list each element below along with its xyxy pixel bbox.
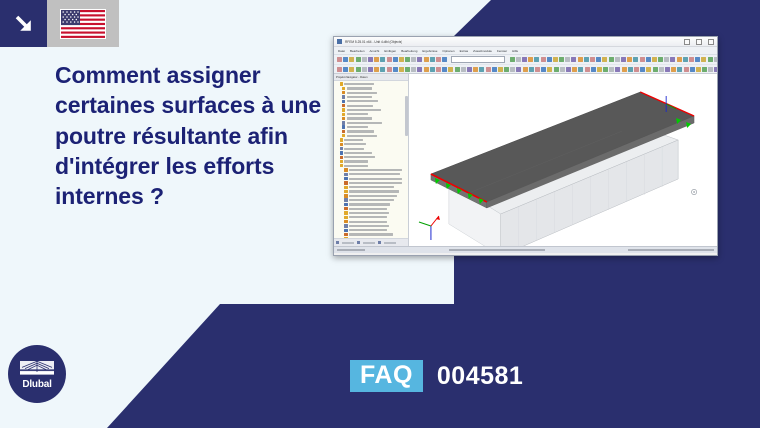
toolbar-icon[interactable] xyxy=(436,67,441,72)
tree-item-label xyxy=(344,165,367,167)
menu-item-bearbeitung[interactable]: Bearbeitung xyxy=(401,49,417,53)
toolbar-icon[interactable] xyxy=(479,67,484,72)
toolbar-icon[interactable] xyxy=(603,67,608,72)
tab-daten-label xyxy=(342,242,354,244)
tree-node-icon xyxy=(344,194,347,197)
toolbar-icon[interactable] xyxy=(602,57,607,62)
toolbar-icon[interactable] xyxy=(510,57,515,62)
tree-node-icon xyxy=(342,125,345,128)
toolbar-icon[interactable] xyxy=(522,57,527,62)
toolbar-icon[interactable] xyxy=(399,67,404,72)
tree-item-label xyxy=(349,212,389,214)
toolbar-icon[interactable] xyxy=(597,67,602,72)
tab-anzeige-label xyxy=(363,242,375,244)
toolbar-icon[interactable] xyxy=(622,67,627,72)
tree-scrollbar[interactable] xyxy=(405,96,408,136)
toolbar-icon[interactable] xyxy=(362,57,367,62)
page-title: Comment assigner certaines surfaces à un… xyxy=(55,60,335,212)
project-navigator-panel[interactable]: Projekt-Navigator - Daten xyxy=(334,74,409,246)
toolbar-icon[interactable] xyxy=(455,67,460,72)
maximize-button[interactable] xyxy=(696,39,702,45)
toolbar-icon[interactable] xyxy=(646,57,651,62)
toolbar-icon[interactable] xyxy=(498,67,503,72)
tree-item-label xyxy=(347,135,377,137)
status-right xyxy=(628,249,714,251)
tree-node-icon xyxy=(342,121,345,124)
toolbar-icon[interactable] xyxy=(424,67,429,72)
cad-titlebar: RFEM 5.25.01 x64 - Unit 4.dlbl (Objects) xyxy=(334,37,717,47)
flag-badge xyxy=(47,0,119,47)
project-navigator-header: Projekt-Navigator - Daten xyxy=(334,74,408,81)
faq-number: 004581 xyxy=(437,364,523,389)
menu-item-datei[interactable]: Datei xyxy=(338,49,345,53)
toolbar-icon[interactable] xyxy=(528,57,533,62)
toolbar-icon[interactable] xyxy=(424,57,429,62)
toolbar-icon[interactable] xyxy=(430,57,435,62)
toolbar-icon[interactable] xyxy=(529,67,534,72)
tree-item-label xyxy=(349,182,402,184)
badge xyxy=(0,0,119,47)
toolbar-icon[interactable] xyxy=(534,57,539,62)
navigator-tabs[interactable] xyxy=(334,238,409,246)
tree-item-label xyxy=(344,160,367,162)
toolbar-icon[interactable] xyxy=(628,67,633,72)
toolbar-icon[interactable] xyxy=(553,57,558,62)
cad-application-window[interactable]: RFEM 5.25.01 x64 - Unit 4.dlbl (Objects)… xyxy=(333,36,718,256)
toolbar-icon[interactable] xyxy=(708,67,713,72)
tree-item-label xyxy=(347,109,381,111)
dlubal-logo: Dlubal xyxy=(8,345,66,403)
tree-node-icon xyxy=(344,168,347,171)
toolbar-icon[interactable] xyxy=(356,67,361,72)
toolbar-icon[interactable] xyxy=(541,67,546,72)
toolbar-icon[interactable] xyxy=(696,67,701,72)
tree-item-label xyxy=(349,195,397,197)
minimize-button[interactable] xyxy=(684,39,690,45)
tree-node-icon xyxy=(342,130,345,133)
tree-node-icon xyxy=(340,156,343,159)
toolbar-icon[interactable] xyxy=(393,57,398,62)
toolbar-icon[interactable] xyxy=(646,67,651,72)
toolbar-icon[interactable] xyxy=(393,67,398,72)
toolbar-icon[interactable] xyxy=(535,67,540,72)
toolbar-icon[interactable] xyxy=(362,67,367,72)
tree-item-label xyxy=(349,169,402,171)
close-button[interactable] xyxy=(708,39,714,45)
tree-node-icon xyxy=(342,113,345,116)
tree-item-label xyxy=(347,87,373,89)
tree-node-icon xyxy=(344,186,347,189)
tree-item-label xyxy=(344,143,366,145)
tree-item-label xyxy=(347,122,382,124)
toolbar-icon[interactable] xyxy=(467,67,472,72)
menu-item-ergebnisse[interactable]: Ergebnisse xyxy=(422,49,437,53)
toolbar-icon[interactable] xyxy=(559,57,564,62)
model-viewport[interactable] xyxy=(409,74,717,246)
toolbar-icon[interactable] xyxy=(560,67,565,72)
toolbar-icon[interactable] xyxy=(627,57,632,62)
menu-item-hilfe[interactable]: Hilfe xyxy=(512,49,518,53)
toolbar-icon[interactable] xyxy=(374,57,379,62)
toolbar-icon[interactable] xyxy=(343,67,348,72)
coordinate-axes-icon xyxy=(419,216,440,240)
tree-item-label xyxy=(344,83,374,85)
toolbar-icon[interactable] xyxy=(590,57,595,62)
toolbar-icon[interactable] xyxy=(387,57,392,62)
tree-node-icon xyxy=(340,147,343,150)
toolbar-icon[interactable] xyxy=(547,57,552,62)
toolbar-icon[interactable] xyxy=(486,67,491,72)
slide-root: Comment assigner certaines surfaces à un… xyxy=(0,0,760,428)
toolbar-icon[interactable] xyxy=(374,67,379,72)
tree-item-label xyxy=(349,186,394,188)
toolbar-icon[interactable] xyxy=(690,67,695,72)
toolbar-icon[interactable] xyxy=(430,67,435,72)
toolbar-icon[interactable] xyxy=(343,57,348,62)
toolbar-icon[interactable] xyxy=(671,67,676,72)
faq-bar: FAQ 004581 xyxy=(350,360,523,392)
toolbar-icon[interactable] xyxy=(664,57,669,62)
tab-daten-icon[interactable] xyxy=(336,241,339,244)
toolbar-icon[interactable] xyxy=(368,57,373,62)
toolbar-icon[interactable] xyxy=(554,67,559,72)
menu-item-extras[interactable]: Extras xyxy=(460,49,469,53)
tab-ansichten-icon[interactable] xyxy=(378,241,381,244)
toolbar-icon[interactable] xyxy=(621,57,626,62)
toolbar-icon[interactable] xyxy=(405,67,410,72)
toolbar-icon[interactable] xyxy=(349,57,354,62)
tree-item-label xyxy=(347,117,373,119)
toolbar-icon[interactable] xyxy=(566,67,571,72)
tree-node-icon xyxy=(344,198,347,201)
faq-tag: FAQ xyxy=(350,360,423,392)
tree-item-label xyxy=(347,113,369,115)
toolbar-combobox[interactable] xyxy=(451,56,505,63)
tree-node-icon xyxy=(344,216,347,219)
toolbar-icon[interactable] xyxy=(677,67,682,72)
toolbar-icon[interactable] xyxy=(640,57,645,62)
tab-ansichten-label xyxy=(384,242,396,244)
toolbar-icon[interactable] xyxy=(665,67,670,72)
toolbar-icon[interactable] xyxy=(405,57,410,62)
toolbar-icon[interactable] xyxy=(572,67,577,72)
toolbar-icon[interactable] xyxy=(591,67,596,72)
toolbar-icon[interactable] xyxy=(337,57,342,62)
toolbar-icon[interactable] xyxy=(399,57,404,62)
project-navigator-tree[interactable] xyxy=(334,81,408,246)
tree-node-icon xyxy=(344,190,347,193)
tree-item-label xyxy=(349,208,387,210)
toolbar-icon[interactable] xyxy=(585,67,590,72)
toolbar-icon[interactable] xyxy=(584,57,589,62)
toolbar-icon[interactable] xyxy=(516,67,521,72)
tree-node-icon xyxy=(342,117,345,120)
toolbar-icon[interactable] xyxy=(504,67,509,72)
tree-node-icon xyxy=(342,95,345,98)
bridge-truss-icon xyxy=(19,359,55,379)
toolbar-icon[interactable] xyxy=(516,57,521,62)
tree-item-label xyxy=(344,139,363,141)
tree-item-label xyxy=(347,92,377,94)
toolbar-icon[interactable] xyxy=(670,57,675,62)
toolbar-icon[interactable] xyxy=(677,57,682,62)
tree-node-icon xyxy=(344,229,347,232)
status-center xyxy=(449,249,545,251)
tree-node-icon xyxy=(340,82,343,85)
toolbar-icon[interactable] xyxy=(442,67,447,72)
cad-menubar[interactable]: Datei Bearbeiten Ansicht Einfügen Bearbe… xyxy=(334,47,717,55)
tree-node-icon xyxy=(344,181,347,184)
us-flag-icon xyxy=(60,9,106,39)
toolbar-icon[interactable] xyxy=(411,67,416,72)
toolbar-icon[interactable] xyxy=(571,57,576,62)
tree-item-label xyxy=(349,221,387,223)
toolbar-icon[interactable] xyxy=(547,67,552,72)
tree-node-icon xyxy=(340,138,343,141)
window-controls[interactable] xyxy=(684,39,714,45)
logo-wordmark: Dlubal xyxy=(22,380,51,390)
app-icon xyxy=(337,39,342,44)
toolbar-icon[interactable] xyxy=(411,57,416,62)
menu-item-ansicht[interactable]: Ansicht xyxy=(370,49,380,53)
structural-model-3d xyxy=(409,74,717,246)
toolbar-icon[interactable] xyxy=(473,67,478,72)
tree-node-icon xyxy=(344,224,347,227)
toolbar-icon[interactable] xyxy=(615,67,620,72)
toolbar-icon[interactable] xyxy=(442,57,447,62)
tree-item-label xyxy=(344,156,375,158)
cad-toolbar-primary[interactable] xyxy=(334,55,717,65)
tree-item-label xyxy=(347,130,374,132)
tree-item-label xyxy=(349,225,389,227)
tree-item-label xyxy=(347,96,373,98)
toolbar-icon[interactable] xyxy=(708,57,713,62)
menu-item-bearbeiten[interactable]: Bearbeiten xyxy=(350,49,365,53)
toolbar-icon[interactable] xyxy=(436,57,441,62)
toolbar-icon[interactable] xyxy=(356,57,361,62)
toolbar-icon[interactable] xyxy=(417,57,422,62)
tree-node-icon xyxy=(342,87,345,90)
toolbar-icon[interactable] xyxy=(337,67,342,72)
tree-item-label xyxy=(344,152,372,154)
toolbar-icon[interactable] xyxy=(448,67,453,72)
toolbar-icon[interactable] xyxy=(510,67,515,72)
menu-item-fenster[interactable]: Fenster xyxy=(497,49,507,53)
toolbar-icon[interactable] xyxy=(634,67,639,72)
toolbar-icon[interactable] xyxy=(659,67,664,72)
toolbar-icon[interactable] xyxy=(578,57,583,62)
cad-body: Projekt-Navigator - Daten xyxy=(334,74,717,246)
toolbar-icon[interactable] xyxy=(609,57,614,62)
toolbar-icon[interactable] xyxy=(380,57,385,62)
toolbar-icon[interactable] xyxy=(701,57,706,62)
menu-item-zusatzmodule[interactable]: Zusatzmodule xyxy=(473,49,492,53)
toolbar-icon[interactable] xyxy=(380,67,385,72)
toolbar-icon[interactable] xyxy=(541,57,546,62)
tree-item-label xyxy=(349,216,387,218)
toolbar-icon[interactable] xyxy=(658,57,663,62)
toolbar-icon[interactable] xyxy=(578,67,583,72)
tree-item-label xyxy=(349,229,387,231)
cad-status-bar xyxy=(334,246,717,253)
menu-item-einfuegen[interactable]: Einfügen xyxy=(384,49,396,53)
toolbar-icon[interactable] xyxy=(653,67,658,72)
toolbar-icon[interactable] xyxy=(461,67,466,72)
tree-item-label xyxy=(349,233,393,235)
arrow-badge xyxy=(0,0,47,47)
tree-node-icon xyxy=(340,151,343,154)
toolbar-icon[interactable] xyxy=(615,57,620,62)
tree-node-icon xyxy=(340,143,343,146)
toolbar-icon[interactable] xyxy=(683,57,688,62)
toolbar-icon[interactable] xyxy=(640,67,645,72)
tree-node-icon xyxy=(344,233,347,236)
tree-node-icon xyxy=(344,203,347,206)
toolbar-icon[interactable] xyxy=(689,57,694,62)
toolbar-icon[interactable] xyxy=(387,67,392,72)
tree-node-icon xyxy=(344,177,347,180)
toolbar-icon[interactable] xyxy=(702,67,707,72)
tree-node-icon xyxy=(344,211,347,214)
tree-item-label xyxy=(349,203,390,205)
toolbar-icon[interactable] xyxy=(695,57,700,62)
tree-node-icon xyxy=(342,134,345,137)
arrow-down-right-icon xyxy=(11,11,37,37)
tree-item-label xyxy=(347,100,378,102)
status-left xyxy=(337,249,365,251)
tree-node-icon xyxy=(344,173,347,176)
tree-node-icon xyxy=(340,160,343,163)
toolbar-icon[interactable] xyxy=(565,57,570,62)
tree-node-icon xyxy=(342,108,345,111)
toolbar-icon[interactable] xyxy=(652,57,657,62)
toolbar-icon[interactable] xyxy=(714,67,717,72)
cad-toolbar-secondary[interactable] xyxy=(334,65,717,74)
toolbar-icon[interactable] xyxy=(368,67,373,72)
cad-window-title: RFEM 5.25.01 x64 - Unit 4.dlbl (Objects) xyxy=(345,40,402,44)
tree-node-icon xyxy=(342,100,345,103)
tree-item-label xyxy=(347,105,373,107)
toolbar-icon[interactable] xyxy=(684,67,689,72)
tree-node-icon xyxy=(340,164,343,167)
tree-item-label xyxy=(349,173,400,175)
toolbar-icon[interactable] xyxy=(633,57,638,62)
tree-node-icon xyxy=(342,104,345,107)
toolbar-icon[interactable] xyxy=(714,57,717,62)
tree-item-label xyxy=(349,190,399,192)
tree-item-label xyxy=(349,178,402,180)
toolbar-icon[interactable] xyxy=(349,67,354,72)
toolbar-icon[interactable] xyxy=(609,67,614,72)
tab-anzeige-icon[interactable] xyxy=(357,241,360,244)
tree-item-label xyxy=(347,126,368,128)
toolbar-icon[interactable] xyxy=(523,67,528,72)
tree-item-label xyxy=(344,148,364,150)
menu-item-optionen[interactable]: Optionen xyxy=(442,49,454,53)
toolbar-icon[interactable] xyxy=(417,67,422,72)
toolbar-icon[interactable] xyxy=(596,57,601,62)
toolbar-icon[interactable] xyxy=(492,67,497,72)
tree-item-label xyxy=(349,199,394,201)
